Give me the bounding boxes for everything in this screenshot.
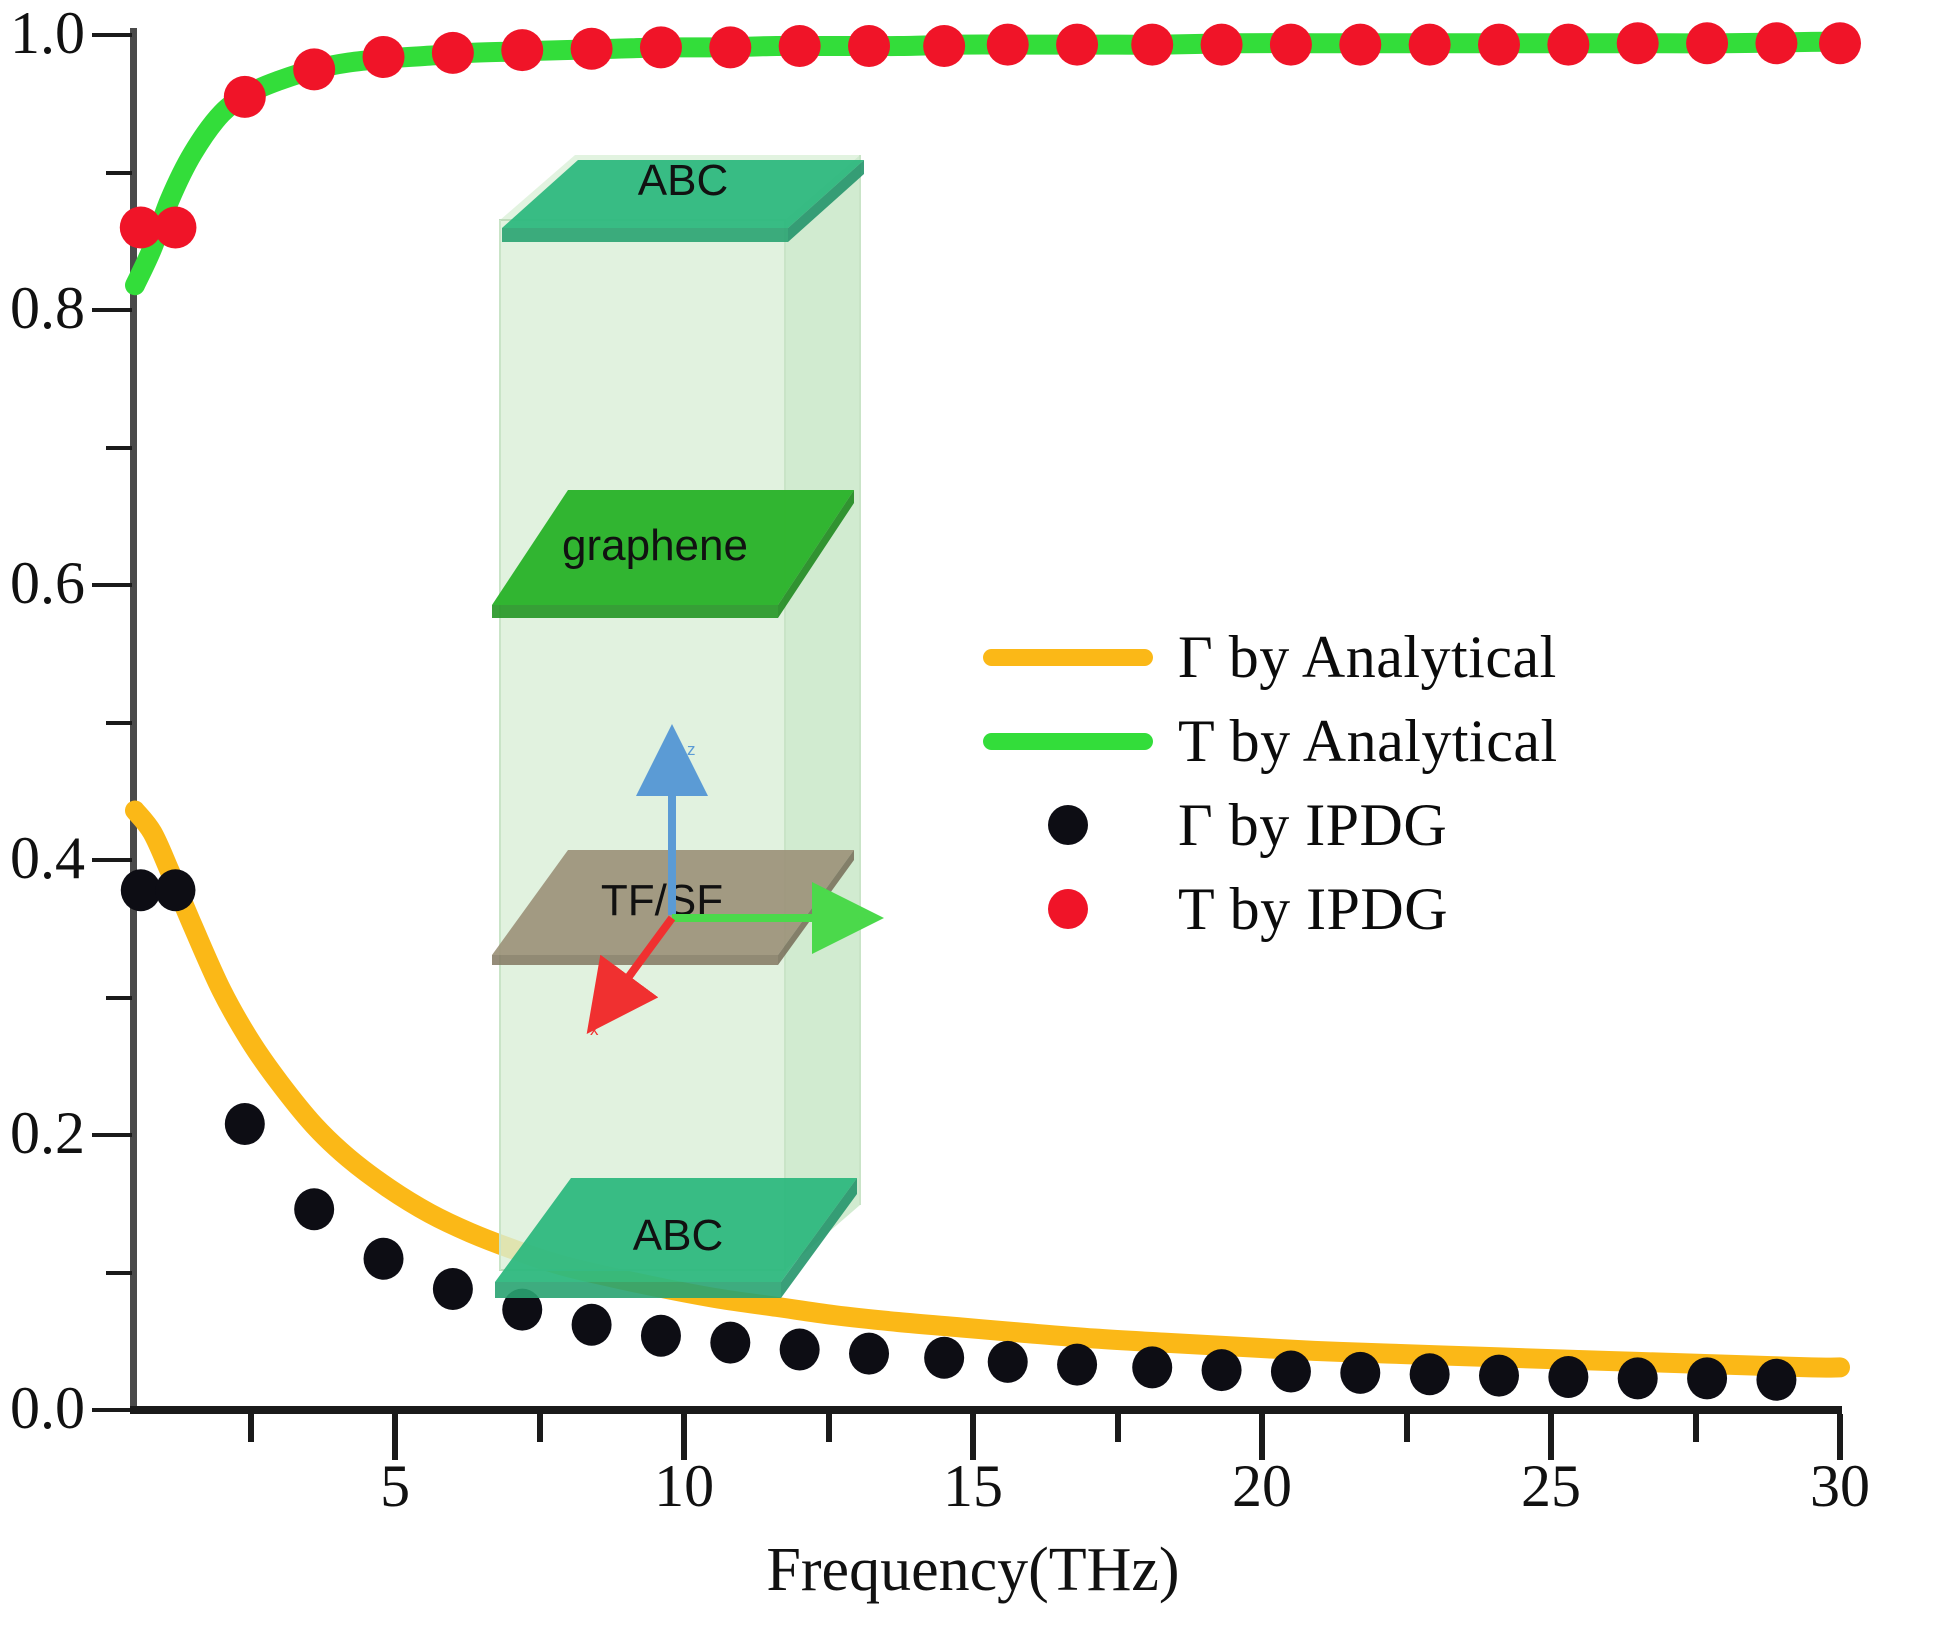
y-tick-label: 0.8: [0, 278, 85, 338]
data-point-marker: [1479, 1355, 1519, 1397]
data-point-marker: [1618, 1357, 1658, 1399]
y-tick-major: [92, 1408, 132, 1412]
data-point-marker: [1410, 1353, 1450, 1395]
x-tick-label: 15: [903, 1456, 1043, 1516]
y-tick-major: [92, 1133, 132, 1137]
y-tick-label: 0.0: [0, 1378, 85, 1438]
y-tick-label: 0.6: [0, 553, 85, 613]
simulation-box: [500, 155, 860, 1270]
x-axis-title: Frequency(THz): [0, 1535, 1946, 1606]
y-tick-label: 0.2: [0, 1103, 85, 1163]
data-point-marker: [1131, 24, 1173, 66]
data-point-marker: [1271, 1351, 1311, 1393]
data-point-marker: [121, 869, 161, 911]
legend-item-label: T by IPDG: [1160, 875, 1448, 944]
abc-bottom-label: ABC: [633, 1211, 723, 1260]
y-tick-minor: [106, 171, 132, 175]
data-point-marker: [1819, 22, 1861, 64]
data-point-marker: [294, 1188, 334, 1230]
legend-marker-swatch: [975, 805, 1160, 845]
chart-figure: 0.00.20.40.60.81.0 51015202530 Frequency…: [0, 0, 1946, 1644]
data-point-marker: [1201, 24, 1243, 66]
y-tick-major: [92, 858, 132, 862]
data-point-marker: [1339, 24, 1381, 66]
x-tick-minor: [1115, 1414, 1121, 1442]
x-tick-minor: [826, 1414, 832, 1442]
legend-item-label: Γ by Analytical: [1160, 623, 1557, 692]
data-point-marker: [1617, 22, 1659, 64]
data-point-marker: [1548, 1356, 1588, 1398]
data-point-marker: [1686, 22, 1728, 64]
data-point-marker: [1057, 1344, 1097, 1386]
y-tick-label: 1.0: [0, 3, 85, 63]
data-point-marker: [923, 25, 965, 67]
x-tick-label: 5: [325, 1456, 465, 1516]
legend-line-swatch: [975, 733, 1160, 750]
data-point-marker: [924, 1337, 964, 1379]
inset-diagram: ABC graphene TF/SF z y: [440, 60, 900, 1360]
x-tick-minor: [1404, 1414, 1410, 1442]
x-tick-minor: [1693, 1414, 1699, 1442]
series-t-ipdg: [120, 22, 1861, 248]
data-point-marker: [363, 36, 405, 78]
data-point-marker: [1547, 24, 1589, 66]
y-tick-major: [92, 33, 132, 37]
legend-marker-swatch: [975, 889, 1160, 929]
data-point-marker: [988, 1341, 1028, 1383]
x-tick-minor: [537, 1414, 543, 1442]
data-point-marker: [1478, 24, 1520, 66]
graphene-label: graphene: [562, 521, 748, 570]
y-tick-minor: [106, 721, 132, 725]
x-tick-label: 20: [1192, 1456, 1332, 1516]
data-point-marker: [120, 207, 162, 249]
legend-line-icon: [983, 733, 1153, 750]
legend-item[interactable]: Γ by IPDG: [975, 783, 1675, 867]
y-tick-minor: [106, 1271, 132, 1275]
data-point-marker: [154, 207, 196, 249]
data-point-marker: [1132, 1346, 1172, 1388]
x-tick-minor: [248, 1414, 254, 1442]
legend-dot-icon: [1048, 889, 1088, 929]
legend-line-swatch: [975, 649, 1160, 666]
data-point-marker: [1202, 1349, 1242, 1391]
x-tick-label: 30: [1770, 1456, 1910, 1516]
data-point-marker: [1756, 1359, 1796, 1401]
y-tick-label: 0.4: [0, 828, 85, 888]
axis-x-label: x: [590, 1020, 599, 1039]
y-tick-minor: [106, 996, 132, 1000]
legend-item-label: T by Analytical: [1160, 707, 1558, 776]
data-point-marker: [293, 48, 335, 90]
abc-top-label: ABC: [638, 156, 728, 205]
series-t-analytical: [135, 42, 1840, 285]
series-line: [135, 42, 1840, 285]
axis-y-label: y: [858, 911, 867, 930]
legend-item[interactable]: T by Analytical: [975, 699, 1675, 783]
data-point-marker: [1687, 1357, 1727, 1399]
data-point-marker: [1340, 1352, 1380, 1394]
legend-item-label: Γ by IPDG: [1160, 791, 1447, 860]
data-point-marker: [987, 24, 1029, 66]
legend-item[interactable]: Γ by Analytical: [975, 615, 1675, 699]
data-point-marker: [364, 1238, 404, 1280]
data-point-marker: [1270, 24, 1312, 66]
chart-legend: Γ by AnalyticalT by AnalyticalΓ by IPDGT…: [975, 615, 1675, 951]
legend-dot-icon: [1048, 805, 1088, 845]
legend-line-icon: [983, 649, 1153, 666]
data-point-marker: [1755, 22, 1797, 64]
x-axis-line: [130, 1406, 1842, 1414]
data-point-marker: [1409, 24, 1451, 66]
x-tick-label: 25: [1481, 1456, 1621, 1516]
legend-item[interactable]: T by IPDG: [975, 867, 1675, 951]
data-point-marker: [1056, 24, 1098, 66]
data-point-marker: [155, 869, 195, 911]
y-tick-minor: [106, 446, 132, 450]
data-point-marker: [225, 1103, 265, 1145]
y-tick-major: [92, 583, 132, 587]
x-tick-label: 10: [614, 1456, 754, 1516]
axis-z-label: z: [687, 740, 696, 759]
y-tick-major: [92, 308, 132, 312]
data-point-marker: [224, 76, 266, 118]
